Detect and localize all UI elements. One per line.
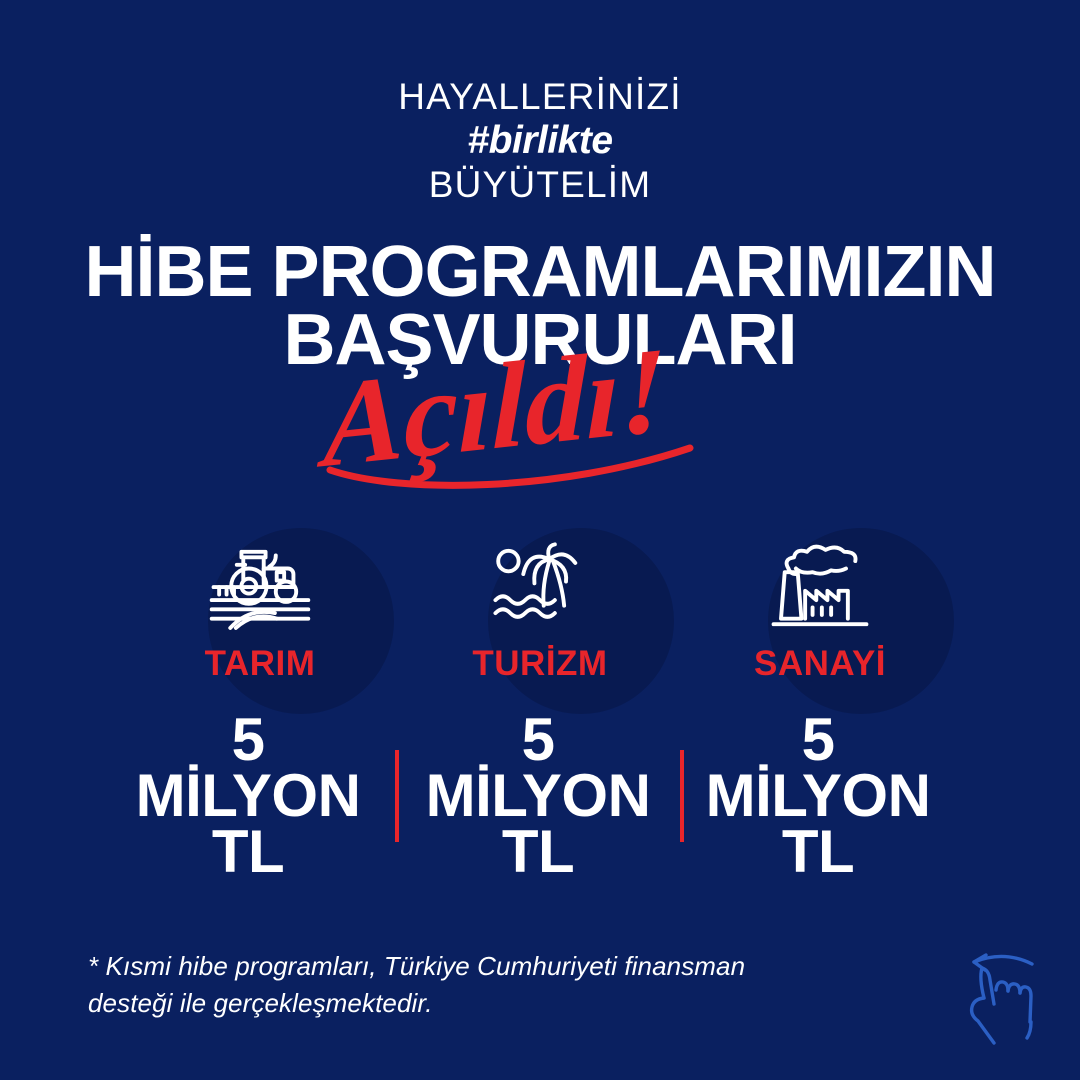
amount-unit-tarim: MİLYON (113, 768, 383, 824)
tractor-icon (208, 542, 312, 634)
amount-number-sanayi: 5 (683, 712, 953, 768)
headline-line-2: BAŞVURULARI (0, 306, 1080, 374)
amount-currency-turizm: TL (403, 824, 673, 880)
swipe-hand-icon (956, 946, 1052, 1050)
amount-tarim: 5 MİLYON TL (113, 712, 383, 879)
category-turizm[interactable]: TURİZM (410, 520, 670, 710)
script-swash (330, 448, 690, 485)
category-label-sanayi: SANAYİ (690, 644, 950, 684)
campaign-hashtag: #birlikte (0, 121, 1080, 160)
category-label-turizm: TURİZM (410, 644, 670, 684)
category-label-tarim: TARIM (130, 644, 390, 684)
amount-currency-sanayi: TL (683, 824, 953, 880)
tagline-line-1: HAYALLERİNİZİ (0, 78, 1080, 115)
page-title: HİBE PROGRAMLARIMIZIN BAŞVURULARI (0, 238, 1080, 375)
amount-divider-1 (395, 750, 399, 842)
amount-turizm: 5 MİLYON TL (403, 712, 673, 879)
amount-number-tarim: 5 (113, 712, 383, 768)
amount-unit-turizm: MİLYON (403, 768, 673, 824)
footnote-line-2: desteği ile gerçekleşmektedir. (88, 985, 818, 1022)
tagline-block: HAYALLERİNİZİ #birlikte BÜYÜTELİM (0, 78, 1080, 203)
poster-canvas: HAYALLERİNİZİ #birlikte BÜYÜTELİM HİBE P… (0, 0, 1080, 1080)
category-sanayi[interactable]: SANAYİ (690, 520, 950, 710)
amount-number-turizm: 5 (403, 712, 673, 768)
tagline-line-2: BÜYÜTELİM (0, 166, 1080, 203)
footnote: * Kısmi hibe programları, Türkiye Cumhur… (88, 948, 818, 1022)
amount-sanayi: 5 MİLYON TL (683, 712, 953, 879)
palm-tree-icon (488, 542, 592, 634)
amount-unit-sanayi: MİLYON (683, 768, 953, 824)
factory-icon (768, 542, 872, 634)
amount-currency-tarim: TL (113, 824, 383, 880)
headline-line-1: HİBE PROGRAMLARIMIZIN (0, 238, 1080, 306)
category-tarim[interactable]: TARIM (130, 520, 390, 710)
category-row: TARIM (0, 520, 1080, 720)
amounts-row: 5 MİLYON TL 5 MİLYON TL 5 MİLYON TL (0, 712, 1080, 882)
footnote-line-1: * Kısmi hibe programları, Türkiye Cumhur… (88, 948, 818, 985)
